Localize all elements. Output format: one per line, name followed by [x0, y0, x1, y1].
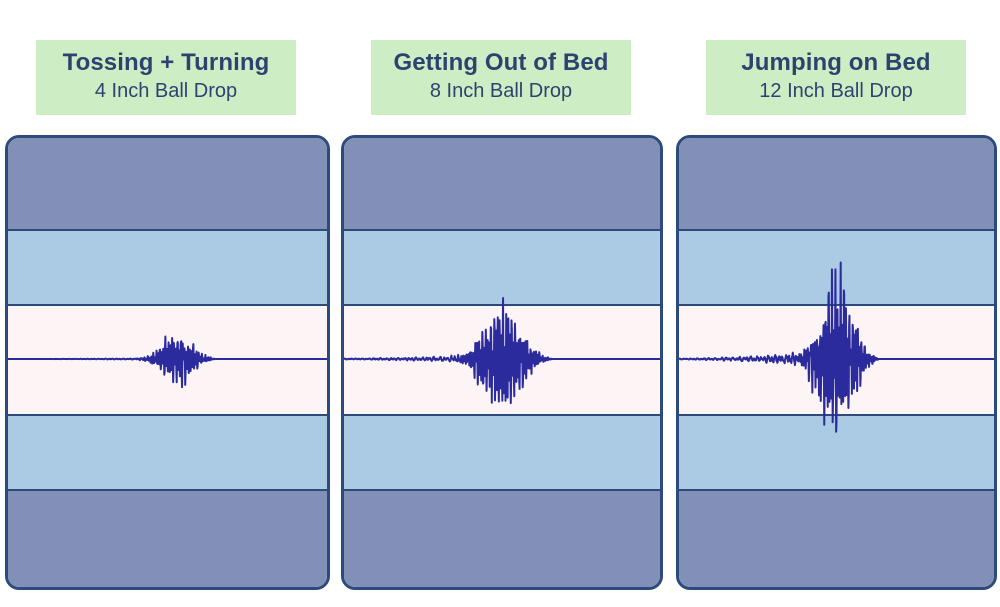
seismograph-trace-2 — [344, 138, 660, 587]
panel-title-2: Getting Out of Bed — [371, 48, 631, 78]
seismograph-trace-3 — [679, 138, 994, 587]
panel-title-1: Tossing + Turning — [36, 48, 296, 78]
panel-header-badge-2: Getting Out of Bed 8 Inch Ball Drop — [371, 40, 631, 115]
panel-subtitle-3: 12 Inch Ball Drop — [706, 78, 966, 105]
panel-header-badge-1: Tossing + Turning 4 Inch Ball Drop — [36, 40, 296, 115]
panel-headers: Tossing + Turning 4 Inch Ball Drop Getti… — [0, 0, 1000, 130]
panel-subtitle-1: 4 Inch Ball Drop — [36, 78, 296, 105]
panel-header-badge-3: Jumping on Bed 12 Inch Ball Drop — [706, 40, 966, 115]
panel-title-3: Jumping on Bed — [706, 48, 966, 78]
seismograph-trace-1 — [8, 138, 327, 587]
mattress-panel-3 — [676, 135, 997, 590]
comparison-board: Tossing + Turning 4 Inch Ball Drop Getti… — [0, 0, 1000, 607]
panel-subtitle-2: 8 Inch Ball Drop — [371, 78, 631, 105]
mattress-panel-1 — [5, 135, 330, 590]
mattress-panel-2 — [341, 135, 663, 590]
